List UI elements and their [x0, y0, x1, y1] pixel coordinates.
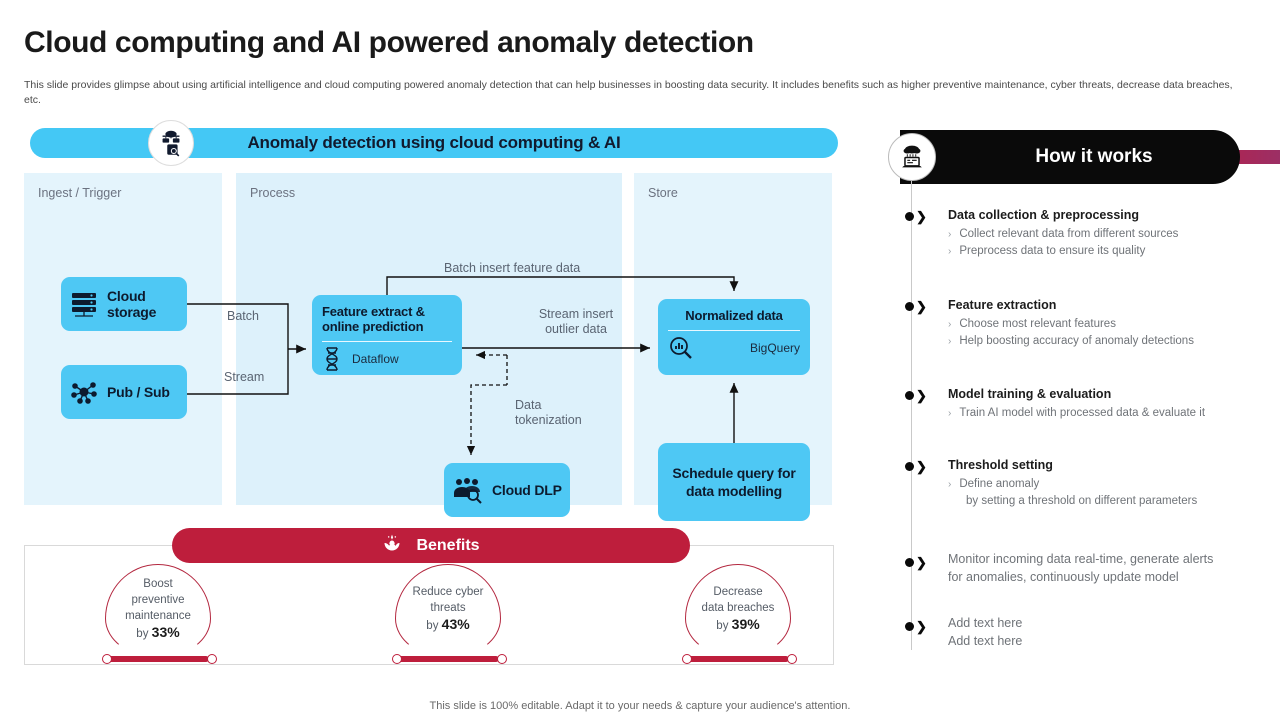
benefit-dot-right	[787, 654, 797, 664]
node-cloud-storage[interactable]: Cloud storage	[61, 277, 187, 331]
node-feature-extract-label: Feature extract & online prediction	[322, 304, 452, 334]
how-it-works-panel: How it works ❯ Data collection & preproc…	[888, 130, 1280, 660]
node-normalized-data-label: Normalized data	[668, 308, 800, 323]
benefit-dot-right	[207, 654, 217, 664]
sub-chevron-icon: ›	[948, 333, 951, 350]
benefit-dot-left	[392, 654, 402, 664]
how-it-works-header: How it works	[900, 130, 1240, 184]
benefits-pill-label: Benefits	[416, 537, 479, 555]
diagram-columns: Ingest / Trigger Process Store	[24, 173, 840, 510]
bullet-arrow-icon: ❯	[905, 391, 927, 400]
column-label-ingest: Ingest / Trigger	[38, 186, 121, 200]
node-cloud-dlp-label: Cloud DLP	[492, 482, 562, 498]
step-title: Feature extraction	[948, 298, 1056, 312]
node-cloud-storage-label: Cloud storage	[107, 288, 179, 320]
lotus-hands-icon	[382, 533, 402, 558]
node-pub-sub-label: Pub / Sub	[107, 384, 170, 400]
diagram-header-title: Anomaly detection using cloud computing …	[247, 133, 620, 153]
node-cloud-dlp[interactable]: Cloud DLP	[444, 463, 570, 517]
footer-note: This slide is 100% editable. Adapt it to…	[0, 700, 1280, 712]
benefit-value: 39%	[732, 616, 760, 632]
sub-chevron-icon: ›	[948, 405, 951, 422]
step-title: Threshold setting	[948, 458, 1053, 472]
step-title: Model training & evaluation	[948, 387, 1111, 401]
step-plain-text: Monitor incoming data real-time, generat…	[948, 550, 1213, 586]
edge-label-batch: Batch	[227, 309, 259, 324]
edge-label-stream-insert-l2: outlier data	[516, 322, 636, 337]
benefit-line-1: Reduce cyber	[413, 586, 484, 598]
benefit-text: Decrease data breaches by 39%	[685, 584, 791, 634]
cloud-search-icon	[148, 120, 194, 166]
benefit-text: Reduce cyber threats by 43%	[395, 584, 501, 634]
step-body: ›Collect relevant data from different so…	[948, 226, 1178, 260]
benefit-line-2: threats	[430, 602, 465, 614]
benefit-item: Reduce cyber threats by 43%	[317, 564, 547, 664]
step-plain-line-2: for anomalies, continuously update model	[948, 568, 1213, 586]
column-ingest: Ingest / Trigger	[24, 173, 222, 505]
step-bullet: Preprocess data to ensure its quality	[959, 243, 1145, 260]
benefit-value: 33%	[152, 624, 180, 640]
benefit-line-1: Decrease	[713, 586, 762, 598]
step-bullet: Train AI model with processed data & eva…	[959, 405, 1205, 422]
node-divider	[322, 341, 452, 342]
step-bullet: Help boosting accuracy of anomaly detect…	[959, 333, 1194, 350]
benefit-by: by	[426, 620, 438, 632]
bullet-arrow-icon: ❯	[905, 558, 927, 567]
how-it-works-title: How it works	[1035, 146, 1152, 168]
node-schedule-query[interactable]: Schedule query for data modelling	[658, 443, 810, 521]
step-title: Data collection & preprocessing	[948, 208, 1139, 222]
node-pub-sub[interactable]: Pub / Sub	[61, 365, 187, 419]
node-divider	[668, 330, 800, 331]
bullet-arrow-icon: ❯	[905, 622, 927, 631]
server-rack-icon	[69, 289, 99, 319]
step-plain-line-1: Monitor incoming data real-time, generat…	[948, 550, 1213, 568]
node-feature-extract-sub: Dataflow	[352, 352, 399, 366]
benefit-item: Boost preventive maintenance by 33%	[27, 564, 257, 664]
cloud-laptop-icon	[888, 133, 936, 181]
node-schedule-query-label: Schedule query for data modelling	[658, 443, 810, 521]
bullet-arrow-icon: ❯	[905, 302, 927, 311]
benefit-dot-left	[102, 654, 112, 664]
step-bullet: Collect relevant data from different sou…	[959, 226, 1178, 243]
benefit-value: 43%	[442, 616, 470, 632]
timeline-rail	[911, 178, 912, 650]
step-plain-line-1: Add text here	[948, 614, 1022, 632]
page-subtitle: This slide provides glimpse about using …	[24, 78, 1239, 108]
benefit-dot-left	[682, 654, 692, 664]
people-search-icon	[452, 476, 484, 504]
node-normalized-data[interactable]: Normalized data BigQuery	[658, 299, 810, 375]
bullet-arrow-icon: ❯	[905, 462, 927, 471]
node-feature-extract[interactable]: Feature extract & online prediction Data…	[312, 295, 462, 375]
edge-label-data-tokenization-l2: tokenization	[515, 413, 582, 428]
edge-label-stream-insert-l1: Stream insert	[516, 307, 636, 322]
step-plain-text: Add text here Add text here	[948, 614, 1022, 650]
benefit-line-2: preventive	[131, 594, 184, 606]
edge-label-stream: Stream	[224, 370, 264, 385]
sub-chevron-icon: ›	[948, 476, 951, 493]
benefits-pill: Benefits	[172, 528, 690, 563]
column-label-store: Store	[648, 186, 678, 200]
benefits-panel: Benefits Boost preventive maintenance by…	[24, 545, 834, 665]
node-normalized-data-sub: BigQuery	[750, 341, 800, 355]
step-body: ›Train AI model with processed data & ev…	[948, 405, 1205, 422]
column-label-process: Process	[250, 186, 295, 200]
benefit-line-3: maintenance	[125, 610, 191, 622]
bullet-arrow-icon: ❯	[905, 212, 927, 221]
benefit-dot-right	[497, 654, 507, 664]
benefit-bar	[397, 656, 499, 662]
benefit-line-2: data breaches	[702, 602, 775, 614]
benefit-by: by	[716, 620, 728, 632]
edge-label-batch-insert: Batch insert feature data	[444, 261, 580, 276]
benefit-bar	[107, 656, 209, 662]
benefit-text: Boost preventive maintenance by 33%	[105, 576, 211, 642]
step-bullet: Choose most relevant features	[959, 316, 1116, 333]
dna-helix-icon	[322, 346, 342, 372]
step-body: ›Choose most relevant features ›Help boo…	[948, 316, 1194, 350]
edge-label-data-tokenization-l1: Data	[515, 398, 582, 413]
page-title: Cloud computing and AI powered anomaly d…	[24, 26, 754, 60]
benefit-item: Decrease data breaches by 39%	[607, 564, 837, 664]
benefit-line-1: Boost	[143, 578, 172, 590]
sub-chevron-icon: ›	[948, 226, 951, 243]
chart-search-icon	[668, 335, 694, 361]
edge-label-data-tokenization: Data tokenization	[515, 398, 582, 428]
diagram-card: Anomaly detection using cloud computing …	[24, 128, 840, 510]
step-bullet: by setting a threshold on different para…	[966, 493, 1197, 510]
benefit-by: by	[136, 628, 148, 640]
benefit-bar	[687, 656, 789, 662]
step-bullet: Define anomaly	[959, 476, 1039, 493]
edge-label-stream-insert: Stream insert outlier data	[516, 307, 636, 337]
slide-root: Cloud computing and AI powered anomaly d…	[0, 0, 1280, 720]
step-plain-line-2: Add text here	[948, 632, 1022, 650]
step-body: ›Define anomaly by setting a threshold o…	[948, 476, 1197, 510]
sub-chevron-icon: ›	[948, 243, 951, 260]
sub-chevron-icon: ›	[948, 316, 951, 333]
network-hub-icon	[69, 377, 99, 407]
